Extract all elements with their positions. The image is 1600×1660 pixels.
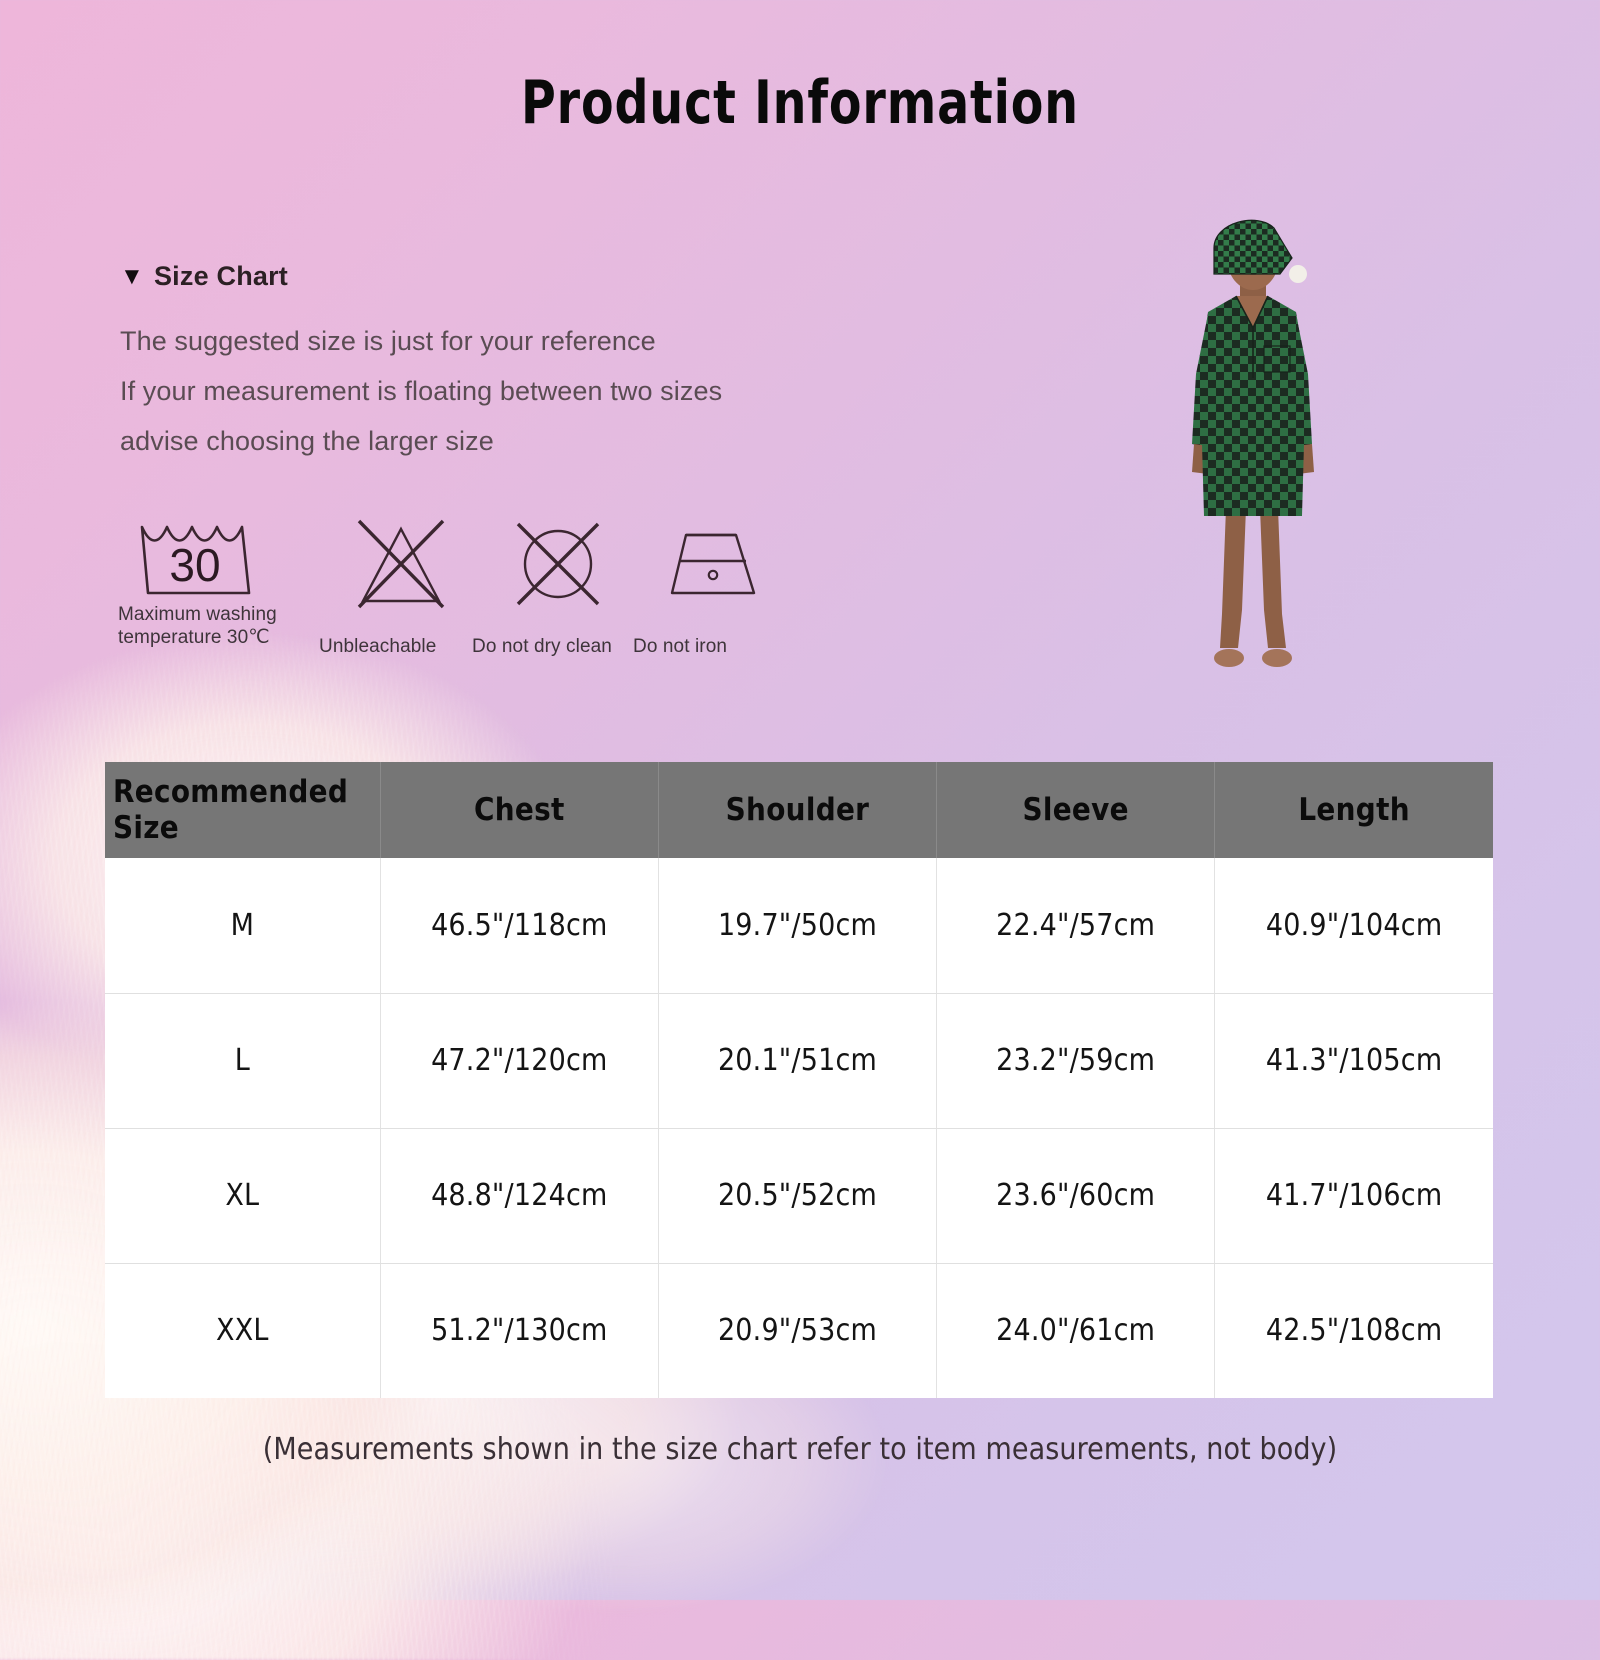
cell-length: 40.9"/104cm <box>1215 858 1493 993</box>
cell-size: L <box>105 993 380 1128</box>
table-header-row: Recommended Size Chest Shoulder Sleeve L… <box>105 762 1493 858</box>
table-row: XL 48.8"/124cm 20.5"/52cm 23.6"/60cm 41.… <box>105 1128 1493 1263</box>
size-chart-table: Recommended Size Chest Shoulder Sleeve L… <box>105 762 1493 1398</box>
column-header-shoulder: Shoulder <box>658 762 936 858</box>
cell-size: M <box>105 858 380 993</box>
wash-temperature-value: 30 <box>169 539 220 591</box>
cell-shoulder: 19.7"/50cm <box>658 858 936 993</box>
care-label-bleach: Unbleachable <box>319 635 480 658</box>
column-header-length: Length <box>1215 762 1493 858</box>
size-chart-heading: ▼ Size Chart <box>120 261 288 292</box>
product-model-image <box>1152 196 1372 676</box>
column-header-sleeve: Sleeve <box>937 762 1215 858</box>
cell-chest: 46.5"/118cm <box>380 858 658 993</box>
size-chart-heading-label: Size Chart <box>154 261 288 292</box>
page-title: Product Information <box>96 68 1504 138</box>
column-header-chest: Chest <box>380 762 658 858</box>
model-nightshirt <box>1192 291 1322 526</box>
size-chart-notes: The suggested size is just for your refe… <box>120 316 722 466</box>
cell-shoulder: 20.5"/52cm <box>658 1128 936 1263</box>
cell-shoulder: 20.1"/51cm <box>658 993 936 1128</box>
care-label-dryclean: Do not dry clean <box>472 635 637 658</box>
cell-chest: 48.8"/124cm <box>380 1128 658 1263</box>
care-label-wash: Maximum washing temperature 30℃ <box>118 603 323 649</box>
care-symbol-dryclean: Do not dry clean <box>480 515 637 658</box>
cell-length: 42.5"/108cm <box>1215 1263 1493 1398</box>
cell-sleeve: 23.2"/59cm <box>937 993 1215 1128</box>
cell-shoulder: 20.9"/53cm <box>658 1263 936 1398</box>
care-symbol-wash: 30 Maximum washing temperature 30℃ <box>118 515 323 649</box>
model-illustration <box>1152 196 1372 676</box>
no-iron-icon <box>662 515 766 613</box>
note-line-1: The suggested size is just for your refe… <box>120 316 722 366</box>
note-line-3: advise choosing the larger size <box>120 416 722 466</box>
care-label-iron: Do not iron <box>633 635 797 658</box>
no-bleach-triangle-icon <box>351 515 451 613</box>
care-symbol-iron: Do not iron <box>637 515 797 658</box>
cell-size: XXL <box>105 1263 380 1398</box>
measurement-footnote: (Measurements shown in the size chart re… <box>0 1432 1600 1467</box>
model-legs <box>1214 508 1292 667</box>
care-symbol-bleach: Unbleachable <box>323 515 480 658</box>
cell-sleeve: 24.0"/61cm <box>937 1263 1215 1398</box>
model-sleep-cap <box>1202 206 1312 286</box>
triangle-down-icon: ▼ <box>120 265 144 289</box>
cell-sleeve: 22.4"/57cm <box>937 858 1215 993</box>
cell-size: XL <box>105 1128 380 1263</box>
table-row: XXL 51.2"/130cm 20.9"/53cm 24.0"/61cm 42… <box>105 1263 1493 1398</box>
cell-sleeve: 23.6"/60cm <box>937 1128 1215 1263</box>
wash-tub-30-icon: 30 <box>136 515 254 597</box>
cell-length: 41.7"/106cm <box>1215 1128 1493 1263</box>
table-row: M 46.5"/118cm 19.7"/50cm 22.4"/57cm 40.9… <box>105 858 1493 993</box>
cell-length: 41.3"/105cm <box>1215 993 1493 1128</box>
cell-chest: 47.2"/120cm <box>380 993 658 1128</box>
column-header-recommended-size: Recommended Size <box>105 762 380 858</box>
care-symbols-row: 30 Maximum washing temperature 30℃ Unble… <box>118 515 797 658</box>
table-row: L 47.2"/120cm 20.1"/51cm 23.2"/59cm 41.3… <box>105 993 1493 1128</box>
no-dry-clean-circle-icon <box>508 515 608 613</box>
note-line-2: If your measurement is floating between … <box>120 366 722 416</box>
cell-chest: 51.2"/130cm <box>380 1263 658 1398</box>
